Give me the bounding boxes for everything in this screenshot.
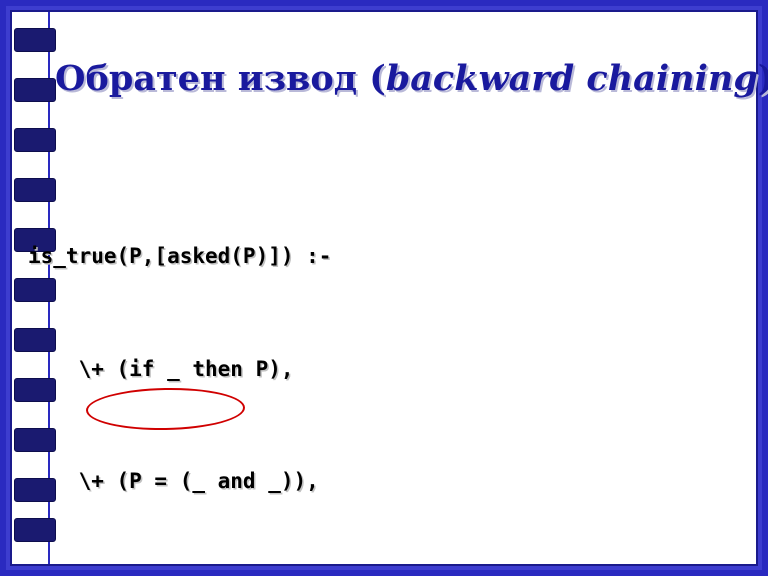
code-line: \+ (if _ then P), bbox=[28, 351, 768, 389]
slide-title-cyrillic: Обратен извод ( bbox=[55, 58, 386, 99]
binding-ring bbox=[14, 128, 56, 152]
slide-title-latin: backward chaining bbox=[386, 58, 758, 99]
slide-title: Обратен извод (backward chaining) bbox=[55, 58, 755, 99]
code-line: \+ (P = (_ and _)), bbox=[28, 463, 768, 501]
slide-canvas: Обратен извод (backward chaining) is_tru… bbox=[0, 0, 768, 576]
code-line: is_true(P,[asked(P)]) :- bbox=[28, 238, 768, 276]
code-block: is_true(P,[asked(P)]) :- \+ (if _ then P… bbox=[28, 163, 768, 576]
slide-title-close: ) bbox=[758, 58, 768, 99]
binding-ring bbox=[14, 28, 56, 52]
binding-ring bbox=[14, 78, 56, 102]
